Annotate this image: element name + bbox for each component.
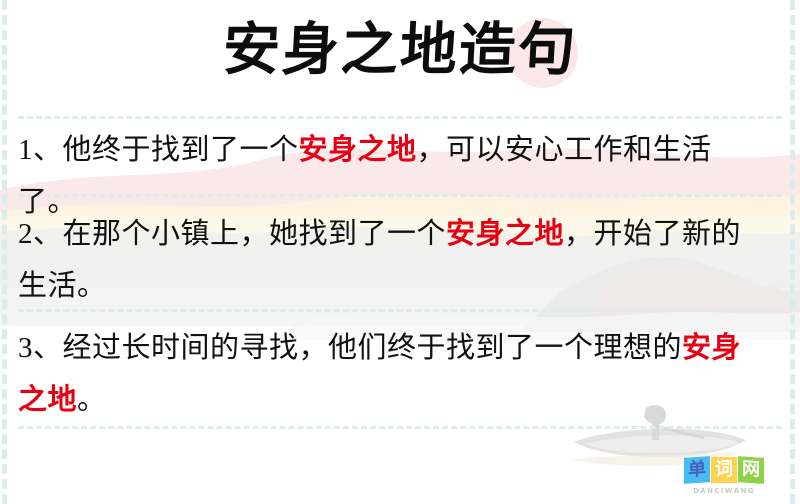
sentence-index: 2、 xyxy=(18,218,63,250)
logo-tile-wang: 网 xyxy=(738,456,764,484)
logo-tiles: 单 词 网 xyxy=(676,457,772,483)
highlighted-idiom: 安身之地 xyxy=(446,218,564,250)
logo-subtitle: DANCIWANG xyxy=(676,487,772,495)
list-item: 2、在那个小镇上，她找到了一个安身之地，开始了新的生活。 xyxy=(18,208,778,312)
site-logo[interactable]: 单 词 网 DANCIWANG xyxy=(676,457,772,495)
sentence-text-before: 在那个小镇上，她找到了一个 xyxy=(63,218,447,250)
sentence-index: 3、 xyxy=(18,332,63,364)
logo-tile-ci: 词 xyxy=(711,457,737,483)
slide-canvas: 安身之地造句 1、他终于找到了一个安身之地，可以安心工作和生活了。 2、在那个小… xyxy=(0,0,800,504)
sentence-index: 1、 xyxy=(18,134,63,166)
sentence-list: 1、他终于找到了一个安身之地，可以安心工作和生活了。 2、在那个小镇上，她找到了… xyxy=(0,0,800,504)
list-item: 3、经过长时间的寻找，他们终于找到了一个理想的安身之地。 xyxy=(18,322,778,426)
logo-tile-dan: 单 xyxy=(684,456,710,484)
sentence-text-before: 经过长时间的寻找，他们终于找到了一个理想的 xyxy=(63,332,683,364)
sentence-text-after: 。 xyxy=(77,384,107,416)
highlighted-idiom: 安身之地 xyxy=(299,134,417,166)
sentence-text-before: 他终于找到了一个 xyxy=(63,134,299,166)
